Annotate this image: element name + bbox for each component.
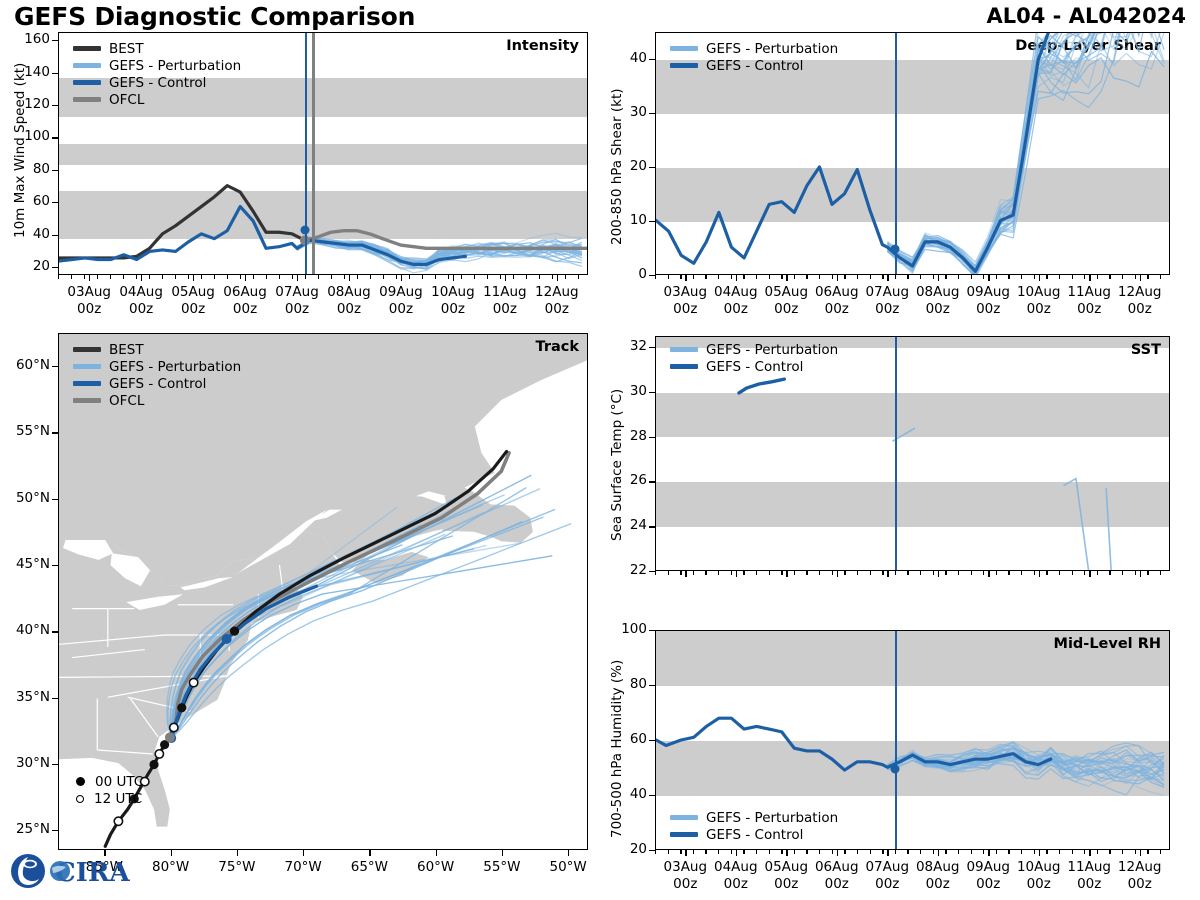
x-tick-minor [1084, 275, 1085, 279]
shear-init-line [895, 33, 898, 274]
x-tick-minor [1008, 275, 1009, 279]
ensemble-member-line [1063, 479, 1088, 570]
lat-tick-mark [52, 499, 58, 500]
y-tick-mark [52, 267, 58, 268]
x-tick-minor [769, 571, 770, 575]
y-tick-label: 80 [603, 676, 647, 692]
legend-item-control: GEFS - Control [670, 57, 838, 74]
legend-item-best: BEST [73, 341, 241, 358]
rh-panel: Mid-Level RH GEFS - Perturbation GEFS - … [655, 630, 1170, 850]
x-tick-minor [1008, 850, 1009, 854]
x-tick-minor [123, 275, 124, 279]
y-tick-label: 80 [6, 161, 50, 177]
best-track-marker-12utc [114, 817, 122, 825]
x-tick-minor [1059, 275, 1060, 279]
x-tick-minor [945, 275, 946, 279]
legend-item-control: GEFS - Control [670, 358, 838, 375]
y-tick-mark [52, 137, 58, 138]
x-tick-minor [731, 571, 732, 575]
x-tick-minor [819, 571, 820, 575]
shear-plot-area: Deep-Layer Shear GEFS - Perturbation GEF… [655, 32, 1170, 275]
x-tick-minor [1097, 850, 1098, 854]
legend-label-perturbation: GEFS - Perturbation [706, 41, 838, 57]
y-tick-label: 60 [603, 731, 647, 747]
lat-tick-mark [52, 698, 58, 699]
x-tick-minor [832, 275, 833, 279]
x-tick-minor [513, 275, 514, 279]
legend-label-perturbation: GEFS - Perturbation [109, 58, 241, 74]
shear-panel: Deep-Layer Shear GEFS - Perturbation GEF… [655, 32, 1170, 275]
x-tick-minor [370, 275, 371, 279]
perturbation-swatch [670, 347, 698, 351]
x-tick-minor [693, 850, 694, 854]
x-tick-minor [435, 275, 436, 279]
lon-tick-label: 65°W [337, 859, 401, 876]
x-tick-minor [1059, 850, 1060, 854]
x-tick-minor [162, 275, 163, 279]
legend-label-best: BEST [109, 342, 144, 358]
x-tick-minor [996, 850, 997, 854]
x-tick-minor [983, 275, 984, 279]
y-tick-label: 60 [6, 193, 50, 209]
y-tick-mark [52, 73, 58, 74]
x-tick-minor [1021, 850, 1022, 854]
x-tick-mark [938, 850, 939, 856]
x-tick-minor [448, 275, 449, 279]
lon-tick-mark [171, 850, 172, 856]
y-tick-mark [649, 740, 655, 741]
x-tick-minor [920, 275, 921, 279]
x-tick-mark [1089, 571, 1090, 577]
x-tick-minor [668, 275, 669, 279]
y-tick-label: 100 [6, 128, 50, 144]
control-swatch [73, 80, 101, 84]
x-tick-minor [1122, 571, 1123, 575]
x-tick-minor [832, 850, 833, 854]
y-tick-mark [649, 526, 655, 527]
x-tick-minor [1122, 275, 1123, 279]
lon-tick-mark [369, 850, 370, 856]
lat-tick-label: 55°N [0, 423, 50, 439]
x-tick-minor [743, 275, 744, 279]
lon-tick-label: 60°W [404, 859, 468, 876]
best-track-marker-00utc [230, 627, 239, 636]
legend-item-perturbation: GEFS - Perturbation [670, 341, 838, 358]
x-tick-mark [685, 850, 686, 856]
x-tick-minor [136, 275, 137, 279]
ofcl-track-marker [165, 732, 175, 742]
x-tick-minor [895, 571, 896, 575]
x-tick-mark [1039, 850, 1040, 856]
x-tick-minor [1109, 275, 1110, 279]
best-swatch [73, 46, 101, 50]
x-tick-minor [907, 571, 908, 575]
x-tick-minor [331, 275, 332, 279]
x-tick-mark [297, 275, 298, 281]
x-tick-mark [736, 275, 737, 281]
y-tick-label: 28 [603, 428, 647, 444]
shear-legend: GEFS - Perturbation GEFS - Control [670, 40, 838, 74]
sst-init-line [895, 337, 898, 570]
y-tick-mark [52, 105, 58, 106]
legend-item-ofcl: OFCL [73, 91, 241, 108]
y-tick-mark [649, 347, 655, 348]
x-tick-minor [680, 850, 681, 854]
x-tick-minor [756, 850, 757, 854]
lat-tick-mark [52, 764, 58, 765]
x-tick-mark [736, 571, 737, 577]
perturbation-swatch [670, 815, 698, 819]
y-tick-label: 40 [603, 50, 647, 66]
x-tick-minor [895, 275, 896, 279]
track-marker-legend: 00 UTC 12 UTC [67, 773, 143, 807]
x-tick-mark [245, 275, 246, 281]
lat-tick-mark [52, 366, 58, 367]
x-tick-minor [756, 571, 757, 575]
open-circle-icon [76, 795, 84, 803]
x-tick-mark [1089, 850, 1090, 856]
x-tick-mark [1140, 850, 1141, 856]
y-tick-mark [649, 59, 655, 60]
lon-tick-mark [502, 850, 503, 856]
x-tick-minor [149, 275, 150, 279]
x-tick-minor [422, 275, 423, 279]
lon-tick-label: 50°W [536, 859, 600, 876]
lat-tick-mark [52, 565, 58, 566]
x-tick-minor [945, 571, 946, 575]
y-tick-label: 120 [6, 96, 50, 112]
x-tick-minor [1122, 850, 1123, 854]
x-tick-minor [1046, 571, 1047, 575]
storm-id-label: AL04 - AL042024 [987, 4, 1187, 28]
x-tick-minor [756, 275, 757, 279]
y-tick-label: 140 [6, 64, 50, 80]
x-tick-label: 12Aug00z [1106, 284, 1174, 318]
x-tick-minor [806, 850, 807, 854]
x-tick-mark [685, 571, 686, 577]
lat-tick-label: 40°N [0, 622, 50, 638]
x-tick-mark [837, 850, 838, 856]
x-tick-minor [680, 571, 681, 575]
x-tick-minor [526, 275, 527, 279]
x-tick-minor [731, 850, 732, 854]
track-panel-title: Track [536, 339, 579, 355]
x-tick-minor [794, 275, 795, 279]
lon-tick-mark [303, 850, 304, 856]
intensity-plot-area: Intensity BEST GEFS - Perturbation GEFS … [58, 32, 588, 275]
legend-item-best: BEST [73, 40, 241, 57]
x-tick-minor [819, 275, 820, 279]
x-tick-minor [1135, 850, 1136, 854]
x-tick-mark [349, 275, 350, 281]
x-tick-minor [1109, 571, 1110, 575]
y-tick-mark [649, 167, 655, 168]
x-tick-minor [870, 850, 871, 854]
x-tick-minor [1072, 571, 1073, 575]
track-panel: Track BEST GEFS - Perturbation GEFS - Co… [58, 333, 588, 850]
x-tick-minor [201, 275, 202, 279]
sst-plot-area: SST GEFS - Perturbation GEFS - Control [655, 336, 1170, 571]
best-track-marker-00utc [177, 703, 186, 712]
x-tick-minor [292, 275, 293, 279]
x-tick-mark [453, 275, 454, 281]
x-tick-minor [539, 275, 540, 279]
x-tick-minor [84, 275, 85, 279]
legend-label-ofcl: OFCL [109, 393, 144, 409]
intensity-y-axis-label: 10m Max Wind Speed (kt) [12, 63, 28, 238]
x-tick-minor [870, 571, 871, 575]
x-tick-minor [1109, 850, 1110, 854]
x-tick-minor [655, 571, 656, 575]
x-tick-minor [718, 850, 719, 854]
x-tick-minor [895, 850, 896, 854]
y-tick-mark [52, 170, 58, 171]
ensemble-member-line [1106, 488, 1111, 570]
x-tick-minor [844, 571, 845, 575]
lat-tick-label: 60°N [0, 357, 50, 373]
legend-label-12utc: 12 UTC [94, 791, 142, 807]
lon-tick-mark [436, 850, 437, 856]
x-tick-minor [920, 571, 921, 575]
control-init-marker [300, 225, 309, 234]
ofcl-swatch [73, 97, 101, 101]
x-tick-mark [786, 571, 787, 577]
legend-label-00utc: 00 UTC [95, 774, 143, 790]
x-tick-minor [655, 850, 656, 854]
x-tick-mark [505, 275, 506, 281]
legend-item-control: GEFS - Control [73, 375, 241, 392]
x-tick-minor [693, 275, 694, 279]
x-tick-minor [1084, 850, 1085, 854]
x-tick-minor [305, 275, 306, 279]
sst-panel: SST GEFS - Perturbation GEFS - Control S… [655, 336, 1170, 571]
x-tick-minor [832, 571, 833, 575]
control-track-marker [222, 634, 232, 644]
x-tick-minor [958, 850, 959, 854]
perturbation-swatch [73, 63, 101, 67]
x-tick-minor [318, 275, 319, 279]
x-tick-minor [705, 850, 706, 854]
x-tick-minor [266, 275, 267, 279]
model-init-line [305, 33, 308, 274]
x-tick-mark [89, 275, 90, 281]
legend-item-control: GEFS - Control [670, 826, 838, 843]
y-tick-label: 20 [603, 841, 647, 857]
x-tick-minor [857, 275, 858, 279]
y-tick-mark [649, 795, 655, 796]
lat-tick-label: 30°N [0, 755, 50, 771]
x-tick-minor [718, 275, 719, 279]
x-tick-minor [680, 275, 681, 279]
x-tick-minor [578, 275, 579, 279]
sst-legend: GEFS - Perturbation GEFS - Control [670, 341, 838, 375]
y-tick-label: 26 [603, 472, 647, 488]
x-tick-minor [565, 275, 566, 279]
x-tick-minor [1046, 275, 1047, 279]
y-tick-mark [649, 481, 655, 482]
x-tick-minor [907, 850, 908, 854]
control-swatch [670, 63, 698, 67]
x-tick-minor [806, 571, 807, 575]
legend-label-ofcl: OFCL [109, 92, 144, 108]
legend-label-control: GEFS - Control [706, 827, 803, 843]
filled-circle-icon [76, 777, 85, 786]
y-tick-mark [649, 392, 655, 393]
x-tick-minor [1097, 571, 1098, 575]
x-tick-mark [988, 275, 989, 281]
x-tick-minor [487, 275, 488, 279]
y-tick-mark [52, 235, 58, 236]
x-tick-minor [279, 275, 280, 279]
x-tick-minor [1084, 571, 1085, 575]
x-tick-minor [933, 275, 934, 279]
lon-tick-label: 80°W [139, 859, 203, 876]
x-tick-minor [996, 275, 997, 279]
perturbation-swatch [670, 46, 698, 50]
legend-label-control: GEFS - Control [706, 58, 803, 74]
x-tick-minor [227, 275, 228, 279]
x-tick-mark [1039, 571, 1040, 577]
x-tick-minor [819, 850, 820, 854]
lat-tick-mark [52, 631, 58, 632]
lat-tick-mark [52, 432, 58, 433]
lat-tick-label: 50°N [0, 490, 50, 506]
x-tick-minor [705, 571, 706, 575]
x-tick-minor [1034, 571, 1035, 575]
x-tick-minor [668, 850, 669, 854]
x-tick-minor [1160, 571, 1161, 575]
lon-tick-mark [568, 850, 569, 856]
x-tick-mark [685, 275, 686, 281]
legend-item-perturbation: GEFS - Perturbation [73, 358, 241, 375]
y-tick-label: 10 [603, 212, 647, 228]
x-tick-minor [110, 275, 111, 279]
x-tick-minor [857, 571, 858, 575]
x-tick-minor [552, 275, 553, 279]
x-tick-minor [781, 275, 782, 279]
shear-init-marker [890, 245, 899, 254]
x-tick-minor [844, 850, 845, 854]
x-tick-minor [1034, 850, 1035, 854]
y-tick-mark [649, 221, 655, 222]
x-tick-mark [1140, 571, 1141, 577]
x-tick-mark [938, 571, 939, 577]
x-tick-minor [175, 275, 176, 279]
y-tick-label: 160 [6, 31, 50, 47]
x-tick-mark [401, 275, 402, 281]
noaa-cira-logo-icon: CIRA [8, 850, 132, 892]
x-tick-minor [1059, 571, 1060, 575]
x-tick-mark [837, 571, 838, 577]
x-tick-mark [193, 275, 194, 281]
legend-label-control: GEFS - Control [706, 359, 803, 375]
x-tick-minor [357, 275, 358, 279]
rh-plot-area: Mid-Level RH GEFS - Perturbation GEFS - … [655, 630, 1170, 850]
lat-tick-label: 25°N [0, 821, 50, 837]
x-tick-minor [971, 571, 972, 575]
x-tick-minor [1072, 275, 1073, 279]
x-tick-minor [668, 571, 669, 575]
x-tick-minor [214, 275, 215, 279]
lat-tick-label: 45°N [0, 556, 50, 572]
x-tick-minor [971, 275, 972, 279]
lon-tick-label: 70°W [271, 859, 335, 876]
y-tick-mark [649, 113, 655, 114]
legend-label-perturbation: GEFS - Perturbation [706, 342, 838, 358]
control-swatch [670, 832, 698, 836]
x-tick-mark [887, 571, 888, 577]
x-tick-minor [1021, 275, 1022, 279]
x-tick-minor [693, 571, 694, 575]
x-tick-minor [1135, 571, 1136, 575]
legend-label-perturbation: GEFS - Perturbation [706, 810, 838, 826]
y-tick-label: 0 [603, 266, 647, 282]
x-tick-minor [983, 850, 984, 854]
x-tick-minor [1097, 275, 1098, 279]
agency-watermark: CIRA [8, 850, 132, 896]
y-tick-mark [649, 685, 655, 686]
x-tick-mark [938, 275, 939, 281]
rh-init-marker [890, 764, 899, 773]
x-tick-minor [769, 275, 770, 279]
x-tick-minor [971, 850, 972, 854]
x-tick-minor [1135, 275, 1136, 279]
x-tick-minor [907, 275, 908, 279]
x-tick-minor [844, 275, 845, 279]
x-tick-minor [794, 850, 795, 854]
x-tick-minor [718, 571, 719, 575]
legend-label-best: BEST [109, 41, 144, 57]
x-tick-minor [731, 275, 732, 279]
lon-tick-label: 75°W [205, 859, 269, 876]
x-tick-mark [887, 275, 888, 281]
x-tick-minor [1147, 275, 1148, 279]
x-tick-mark [887, 850, 888, 856]
x-tick-minor [958, 571, 959, 575]
y-tick-mark [649, 630, 655, 631]
x-tick-mark [988, 571, 989, 577]
x-tick-minor [1034, 275, 1035, 279]
track-legend: BEST GEFS - Perturbation GEFS - Control … [73, 341, 241, 409]
y-tick-label: 22 [603, 562, 647, 578]
x-tick-minor [71, 275, 72, 279]
ofcl-swatch [73, 398, 101, 402]
x-tick-mark [786, 850, 787, 856]
intensity-panel: Intensity BEST GEFS - Perturbation GEFS … [58, 32, 588, 275]
x-tick-minor [1160, 275, 1161, 279]
lon-tick-mark [237, 850, 238, 856]
x-tick-minor [1160, 850, 1161, 854]
x-tick-minor [409, 275, 410, 279]
legend-item-perturbation: GEFS - Perturbation [670, 809, 838, 826]
legend-label-perturbation: GEFS - Perturbation [109, 359, 241, 375]
x-tick-mark [557, 275, 558, 281]
perturbation-swatch [73, 364, 101, 368]
intensity-legend: BEST GEFS - Perturbation GEFS - Control … [73, 40, 241, 108]
y-tick-label: 30 [603, 104, 647, 120]
best-track-marker-12utc [170, 723, 178, 731]
best-track-marker-12utc [155, 750, 163, 758]
x-tick-minor [882, 850, 883, 854]
x-tick-minor [945, 850, 946, 854]
x-tick-minor [253, 275, 254, 279]
control-swatch [670, 364, 698, 368]
ofcl-init-line [312, 33, 314, 274]
x-tick-minor [983, 571, 984, 575]
x-tick-minor [383, 275, 384, 279]
page-title: GEFS Diagnostic Comparison [14, 2, 415, 31]
x-tick-mark [988, 850, 989, 856]
